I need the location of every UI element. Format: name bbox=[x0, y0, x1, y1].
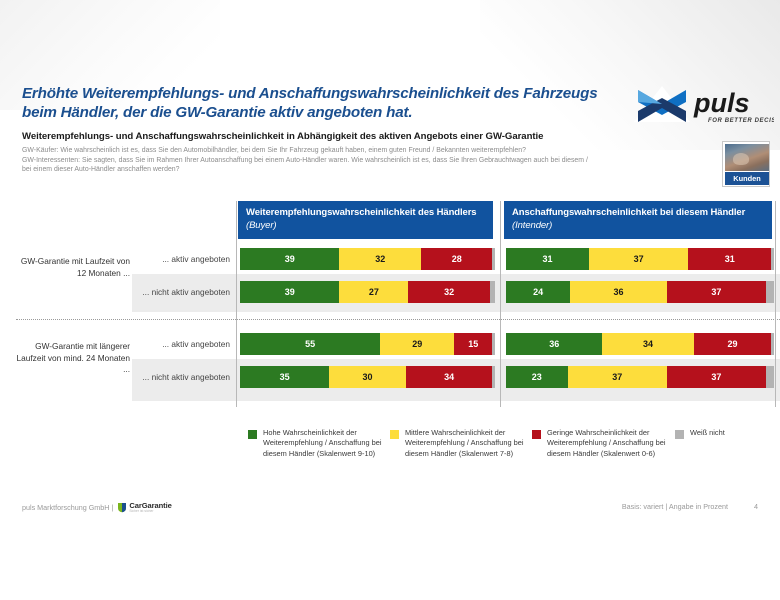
panel-header-intender-subtitle: (Intender) bbox=[512, 220, 552, 231]
question-line-1: GW-Käufer: Wie wahrscheinlich ist es, da… bbox=[22, 146, 712, 156]
stacked-bar: 233737 bbox=[506, 366, 774, 388]
footer-company: puls Marktforschung GmbH | CarGarantie S… bbox=[22, 502, 172, 513]
stacked-bar: 392732 bbox=[240, 281, 495, 303]
question-line-3: bei einem dieser Auto-Händler anschaffen… bbox=[22, 165, 712, 175]
cargarantie-shield-icon bbox=[117, 502, 127, 513]
kunden-badge-label: Kunden bbox=[725, 172, 769, 185]
row-label: ... nicht aktiv angeboten bbox=[108, 371, 236, 383]
legend-swatch-icon bbox=[390, 430, 399, 439]
kunden-photo bbox=[725, 144, 769, 171]
bar-segment: 29 bbox=[380, 333, 454, 355]
bar-segment: 31 bbox=[506, 248, 589, 270]
panel-divider-right bbox=[775, 201, 776, 407]
legend-swatch-icon bbox=[248, 430, 257, 439]
bar-segment: 36 bbox=[506, 333, 602, 355]
bar-segment: 27 bbox=[339, 281, 408, 303]
svg-text:puls: puls bbox=[693, 88, 750, 118]
bar-segment: 23 bbox=[506, 366, 568, 388]
page-number: 4 bbox=[754, 502, 758, 512]
stacked-bar: 243637 bbox=[506, 281, 774, 303]
bar-segment: 15 bbox=[454, 333, 492, 355]
slide: Erhöhte Weiterempfehlungs- und Anschaffu… bbox=[0, 0, 780, 600]
panel-divider-middle bbox=[500, 201, 501, 407]
stacked-bar: 393228 bbox=[240, 248, 495, 270]
bar-segment: 37 bbox=[667, 366, 766, 388]
bar-segment: 24 bbox=[506, 281, 570, 303]
legend-swatch-icon bbox=[675, 430, 684, 439]
bar-segment: 34 bbox=[602, 333, 693, 355]
bar-segment bbox=[771, 248, 774, 270]
bar-segment bbox=[490, 281, 495, 303]
bar-segment: 55 bbox=[240, 333, 380, 355]
puls-logo-icon: puls FOR BETTER DECISIONS bbox=[632, 82, 774, 126]
bar-segment bbox=[766, 281, 774, 303]
bar-segment: 34 bbox=[406, 366, 493, 388]
bar-segment: 28 bbox=[421, 248, 492, 270]
background-shade-right bbox=[480, 0, 780, 150]
cargarantie-tagline: Sicher ist sicher bbox=[129, 510, 171, 513]
panel-header-buyer: Weiterempfehlungswahrscheinlichkeit des … bbox=[238, 201, 493, 239]
bar-segment bbox=[492, 248, 495, 270]
cargarantie-logo: CarGarantie Sicher ist sicher bbox=[117, 502, 171, 513]
footer-basis: Basis: variert | Angabe in Prozent bbox=[622, 502, 728, 512]
bar-segment bbox=[771, 333, 774, 355]
bar-segment: 37 bbox=[568, 366, 667, 388]
row-label: ... aktiv angeboten bbox=[108, 253, 236, 265]
kunden-badge[interactable]: Kunden bbox=[722, 141, 770, 187]
svg-text:FOR BETTER DECISIONS: FOR BETTER DECISIONS bbox=[708, 118, 774, 124]
puls-logo: puls FOR BETTER DECISIONS bbox=[632, 82, 774, 126]
bar-segment: 32 bbox=[408, 281, 490, 303]
legend-label: Hohe Wahrscheinlichkeit der Weiterempfeh… bbox=[263, 428, 391, 459]
bar-segment bbox=[766, 366, 774, 388]
bar-segment: 30 bbox=[329, 366, 406, 388]
row-label: ... aktiv angeboten bbox=[108, 338, 236, 350]
bar-segment: 32 bbox=[339, 248, 421, 270]
legend-label: Geringe Wahrscheinlichkeit der Weiteremp… bbox=[547, 428, 675, 459]
panel-header-buyer-title: Weiterempfehlungswahrscheinlichkeit des … bbox=[246, 207, 476, 218]
group-separator bbox=[16, 319, 780, 320]
stacked-bar: 353034 bbox=[240, 366, 495, 388]
question-text: GW-Käufer: Wie wahrscheinlich ist es, da… bbox=[22, 146, 712, 175]
bar-segment: 39 bbox=[240, 248, 339, 270]
bar-segment: 37 bbox=[589, 248, 688, 270]
question-line-2: GW-Interessenten: Sie sagten, dass Sie i… bbox=[22, 156, 712, 166]
bar-segment: 36 bbox=[570, 281, 666, 303]
chart-legend: Hohe Wahrscheinlichkeit der Weiterempfeh… bbox=[0, 428, 780, 484]
stacked-bar: 313731 bbox=[506, 248, 774, 270]
legend-label: Weiß nicht bbox=[690, 428, 780, 438]
bar-segment: 39 bbox=[240, 281, 339, 303]
page-title: Erhöhte Weiterempfehlungs- und Anschaffu… bbox=[22, 84, 622, 122]
legend-swatch-icon bbox=[532, 430, 541, 439]
stacked-bar: 363429 bbox=[506, 333, 774, 355]
bar-segment: 31 bbox=[688, 248, 771, 270]
chart-area: Weiterempfehlungswahrscheinlichkeit des … bbox=[0, 196, 780, 412]
row-label: ... nicht aktiv angeboten bbox=[108, 286, 236, 298]
panel-header-buyer-subtitle: (Buyer) bbox=[246, 220, 276, 231]
panel-header-intender: Anschaffungswahrscheinlichkeit bei diese… bbox=[504, 201, 772, 239]
footer-company-name: puls Marktforschung GmbH | bbox=[22, 503, 113, 513]
panel-divider-left bbox=[236, 201, 237, 407]
page-subtitle: Weiterempfehlungs- und Anschaffungswahrs… bbox=[22, 131, 722, 143]
stacked-bar: 552915 bbox=[240, 333, 495, 355]
panel-header-intender-title: Anschaffungswahrscheinlichkeit bei diese… bbox=[512, 207, 745, 218]
bar-segment bbox=[492, 333, 495, 355]
legend-label: Mittlere Wahrscheinlichkeit der Weiterem… bbox=[405, 428, 533, 459]
bar-segment: 29 bbox=[694, 333, 772, 355]
bar-segment: 37 bbox=[667, 281, 766, 303]
bar-segment bbox=[492, 366, 495, 388]
bar-segment: 35 bbox=[240, 366, 329, 388]
